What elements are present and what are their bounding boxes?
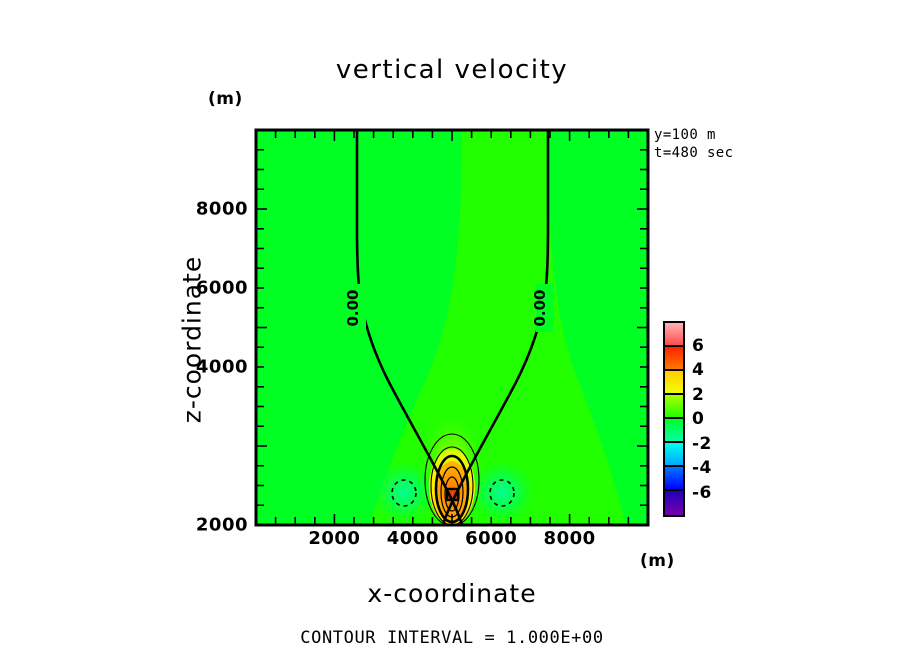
colorbar-tick-6: 6 [692,336,704,356]
colorbar-band-1 [665,347,683,371]
annotation-time: t=480 sec [654,144,733,162]
colorbar-band-3 [665,395,683,419]
colorbar-band-0 [665,323,683,347]
negative-lobe-left [370,459,438,525]
colorbar-band-2 [665,371,683,395]
figure-canvas: vertical velocity (m) (m) z-coordinate x… [0,0,904,654]
colorbar-tick-0: 0 [692,409,704,429]
colorbar-tick-2: 2 [692,385,704,405]
colorbar [663,321,685,517]
contour-label-right: 0.00 [531,289,549,326]
plot-annotation: y=100 m t=480 sec [654,126,733,162]
contour-label-left: 0.00 [344,289,362,326]
colorbar-tick-neg4: -4 [692,458,712,478]
colorbar-tick-neg2: -2 [692,434,712,454]
colorbar-tick-neg6: -6 [692,483,712,503]
annotation-slice: y=100 m [654,126,733,144]
colorbar-band-4 [665,419,683,443]
colorbar-tick-labels: 6420-2-4-6 [692,321,738,517]
contour-plot-area: 0.00 0.00 [0,0,904,654]
colorbar-band-6 [665,467,683,491]
contour-field [256,130,648,526]
colorbar-band-7 [665,491,683,515]
colorbar-tick-4: 4 [692,360,704,380]
colorbar-bands [665,323,683,515]
colorbar-band-5 [665,443,683,467]
contour-interval-caption: CONTOUR INTERVAL = 1.000E+00 [0,628,904,648]
